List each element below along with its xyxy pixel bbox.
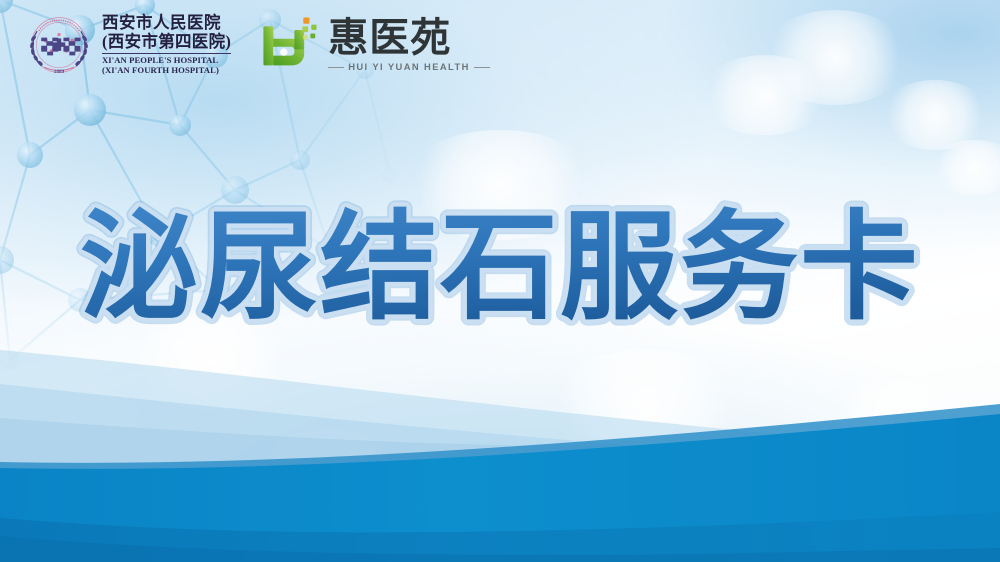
main-title-text: 泌尿结石服务卡 <box>80 203 920 334</box>
partner-logo: 惠医苑 HUI YI YUAN HEALTH <box>259 14 490 76</box>
partner-name-cn: 惠医苑 <box>328 18 490 58</box>
hospital-emblem-icon: 1889 <box>22 8 96 82</box>
hospital-name-en-secondary: (XI'AN FOURTH HOSPITAL) <box>102 66 231 75</box>
hospital-name-block: 西安市人民医院 (西安市第四医院) XI'AN PEOPLE'S HOSPITA… <box>102 15 231 74</box>
emblem-year: 1889 <box>54 69 65 75</box>
hospital-name-en-primary: XI'AN PEOPLE'S HOSPITAL <box>102 53 231 65</box>
hui-yi-yuan-mark-icon <box>259 14 321 76</box>
slide-canvas: 1889 西安市人民医院 (西安市第四医院) XI'AN PEOPLE'S HO… <box>0 0 1000 562</box>
partner-name-en: HUI YI YUAN HEALTH <box>348 62 470 71</box>
hospital-name-cn-primary: 西安市人民医院 <box>102 15 231 32</box>
hospital-name-cn-secondary: (西安市第四医院) <box>102 34 231 51</box>
tagline-dash-left <box>328 67 344 68</box>
hospital-logo: 1889 西安市人民医院 (西安市第四医院) XI'AN PEOPLE'S HO… <box>22 8 231 82</box>
partner-name-en-row: HUI YI YUAN HEALTH <box>328 62 490 71</box>
logo-bar: 1889 西安市人民医院 (西安市第四医院) XI'AN PEOPLE'S HO… <box>22 8 490 82</box>
tagline-dash-right <box>474 67 490 68</box>
partner-name-block: 惠医苑 HUI YI YUAN HEALTH <box>328 18 490 71</box>
bottom-wave-decoration <box>0 322 1000 562</box>
main-title: 泌尿结石服务卡 泌尿结石服务卡 泌尿结石服务卡 <box>100 200 900 350</box>
main-title-area: 泌尿结石服务卡 泌尿结石服务卡 泌尿结石服务卡 <box>0 200 1000 350</box>
